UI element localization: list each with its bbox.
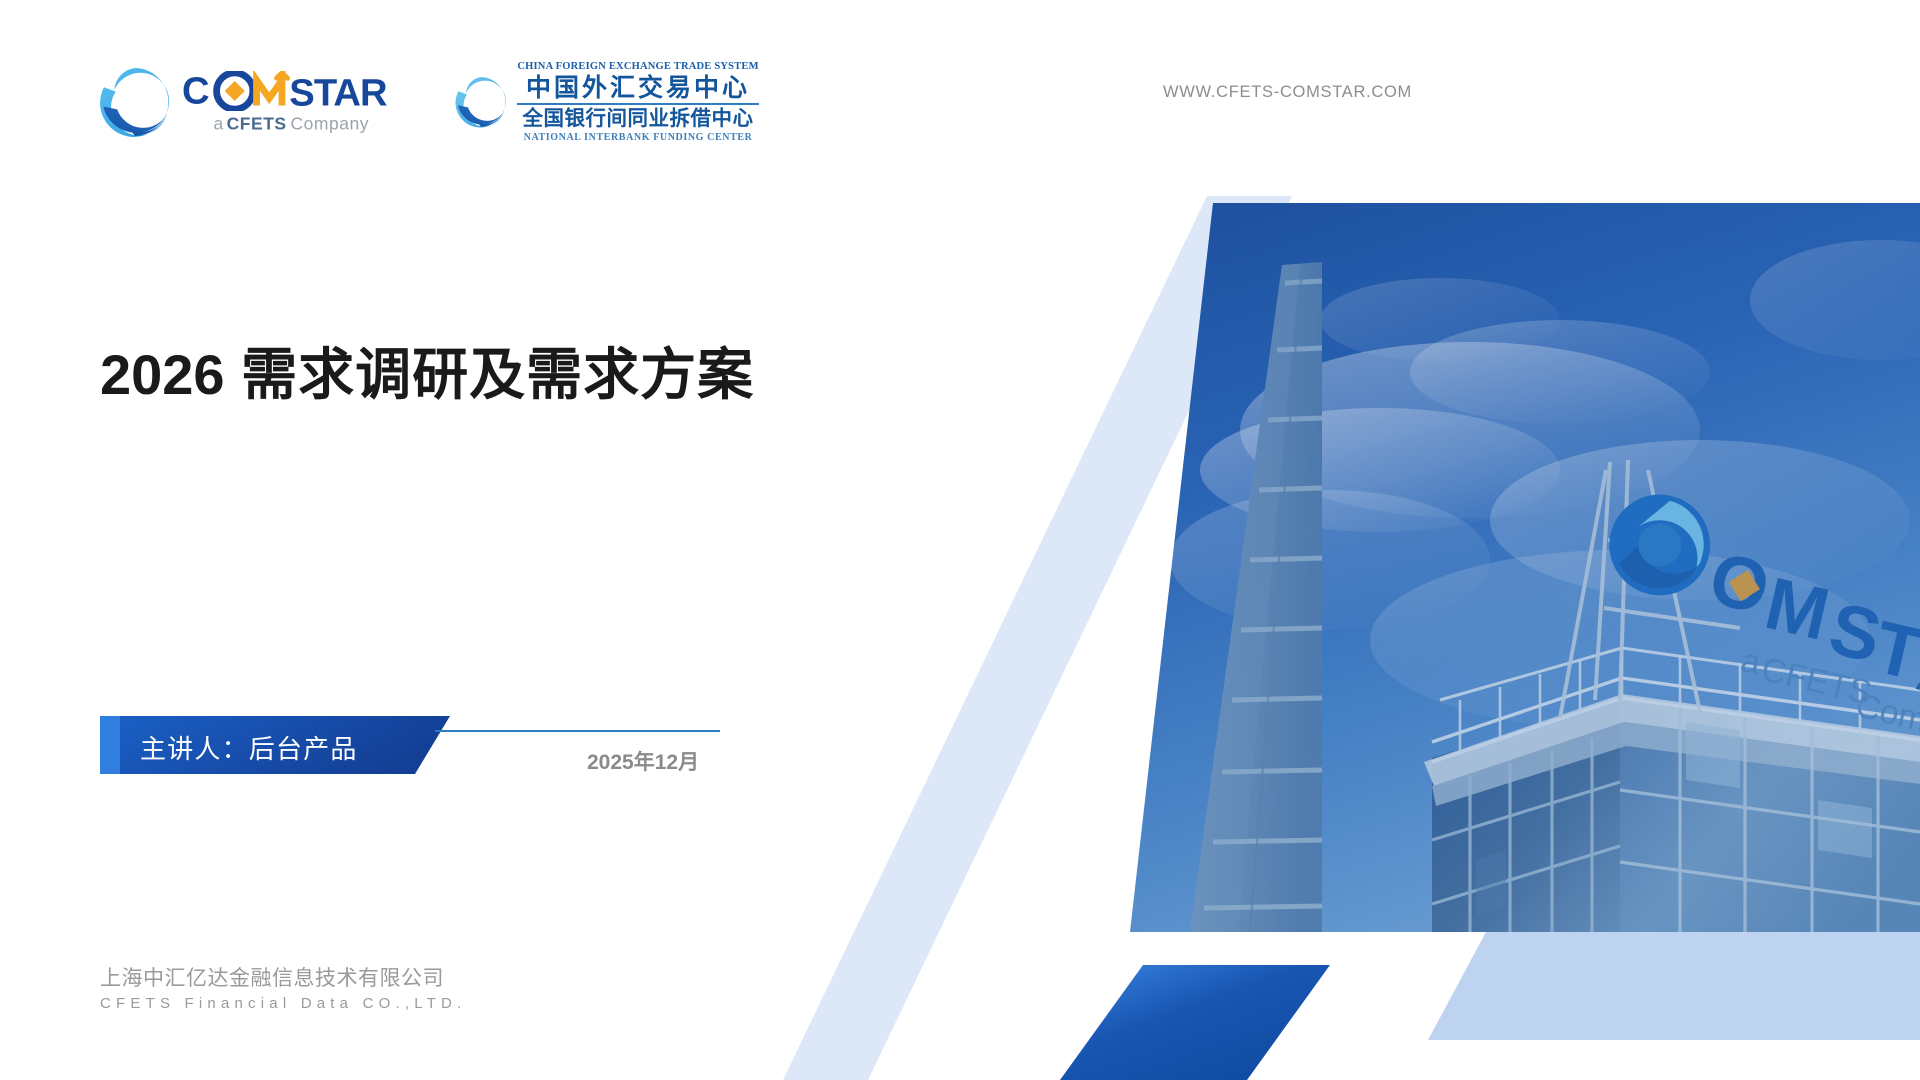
presentation-cover-slide: O M S T A R a CFETS Company [0, 0, 1920, 1080]
cfets-text-block: CHINA FOREIGN EXCHANGE TRADE SYSTEM 中国外汇… [517, 62, 758, 143]
title-year: 2026 [100, 343, 225, 406]
comstar-swirl-icon [98, 65, 172, 139]
footer-company-cn: 上海中汇亿达金融信息技术有限公司 [100, 966, 466, 992]
footer-company: 上海中汇亿达金融信息技术有限公司 CFETS Financial Data CO… [100, 966, 466, 1012]
date-divider [435, 730, 720, 732]
comstar-wordmark-group: C STAR a CFETS Company [182, 71, 418, 134]
cfets-logo[interactable]: CHINA FOREIGN EXCHANGE TRADE SYSTEM 中国外汇… [454, 62, 758, 143]
svg-text:C: C [182, 71, 209, 111]
dark-blue-parallelogram [1060, 965, 1330, 1080]
cfets-divider [517, 103, 758, 105]
cfets-english-bottom: NATIONAL INTERBANK FUNDING CENTER [524, 133, 753, 143]
svg-text:STAR: STAR [289, 71, 387, 110]
slide-header: C STAR a CFETS Company [0, 0, 1920, 190]
light-blue-horizontal-band [1428, 932, 1920, 1040]
presentation-date: 2025年12月 [587, 746, 699, 776]
cfets-english-top: CHINA FOREIGN EXCHANGE TRADE SYSTEM [517, 62, 758, 73]
svg-text:a: a [214, 114, 224, 134]
speaker-date-block: 主讲人：后台产品 2025年12月 [100, 716, 640, 788]
footer-company-en: CFETS Financial Data CO.,LTD. [100, 995, 466, 1012]
cfets-swirl-icon [454, 75, 508, 129]
building-photo-panel: O M S T A R a CFETS Company [1100, 203, 1920, 1008]
svg-text:Company: Company [291, 114, 370, 134]
page-title: 2026 需求调研及需求方案 [100, 330, 754, 411]
title-text: 需求调研及需求方案 [241, 343, 754, 406]
cfets-chinese-bottom: 全国银行间同业拆借中心 [523, 107, 754, 130]
site-url-link[interactable]: WWW.CFETS-COMSTAR.COM [1163, 83, 1412, 102]
logo-group: C STAR a CFETS Company [98, 62, 759, 143]
comstar-tagline: a CFETS Company [182, 113, 410, 134]
speaker-label: 主讲人：后台产品 [140, 729, 358, 766]
comstar-wordmark: C STAR [182, 71, 418, 111]
title-space [225, 343, 242, 406]
cfets-chinese-top: 中国外汇交易中心 [526, 75, 750, 101]
svg-text:CFETS: CFETS [227, 114, 287, 134]
comstar-logo[interactable]: C STAR a CFETS Company [98, 65, 418, 139]
